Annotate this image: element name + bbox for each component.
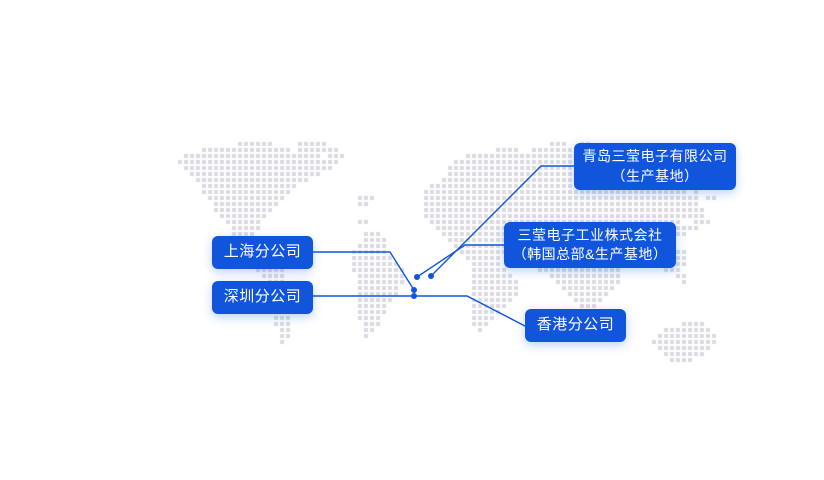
label-korea-hq[interactable]: 三莹电子工业株式会社 （韩国总部&生产基地） <box>504 222 676 268</box>
label-hongkong[interactable]: 香港分公司 <box>525 309 626 342</box>
label-korea-line-2: （韩国总部&生产基地） <box>513 245 668 264</box>
label-hongkong-line-1: 香港分公司 <box>537 315 615 336</box>
label-shenzhen-line-1: 深圳分公司 <box>224 287 302 308</box>
node-shanghai[interactable] <box>411 287 417 293</box>
label-qingdao-line-2: （生产基地） <box>612 167 699 186</box>
connector-lines-layer <box>0 0 824 480</box>
label-shanghai-line-1: 上海分公司 <box>224 242 302 263</box>
label-shenzhen[interactable]: 深圳分公司 <box>212 281 313 314</box>
label-qingdao-line-1: 青岛三莹电子有限公司 <box>583 147 728 166</box>
label-korea-line-1: 三莹电子工业株式会社 <box>518 226 663 245</box>
connector-hongkong <box>414 296 525 326</box>
connector-korea <box>417 245 504 277</box>
node-shenzhen[interactable] <box>411 293 417 299</box>
node-korea[interactable] <box>414 274 420 280</box>
world-map-infographic: 青岛三莹电子有限公司 （生产基地） 三莹电子工业株式会社 （韩国总部&生产基地）… <box>0 0 824 480</box>
connector-shanghai <box>313 252 414 290</box>
label-shanghai[interactable]: 上海分公司 <box>212 236 313 269</box>
node-qingdao[interactable] <box>428 273 434 279</box>
label-qingdao[interactable]: 青岛三莹电子有限公司 （生产基地） <box>574 143 736 190</box>
